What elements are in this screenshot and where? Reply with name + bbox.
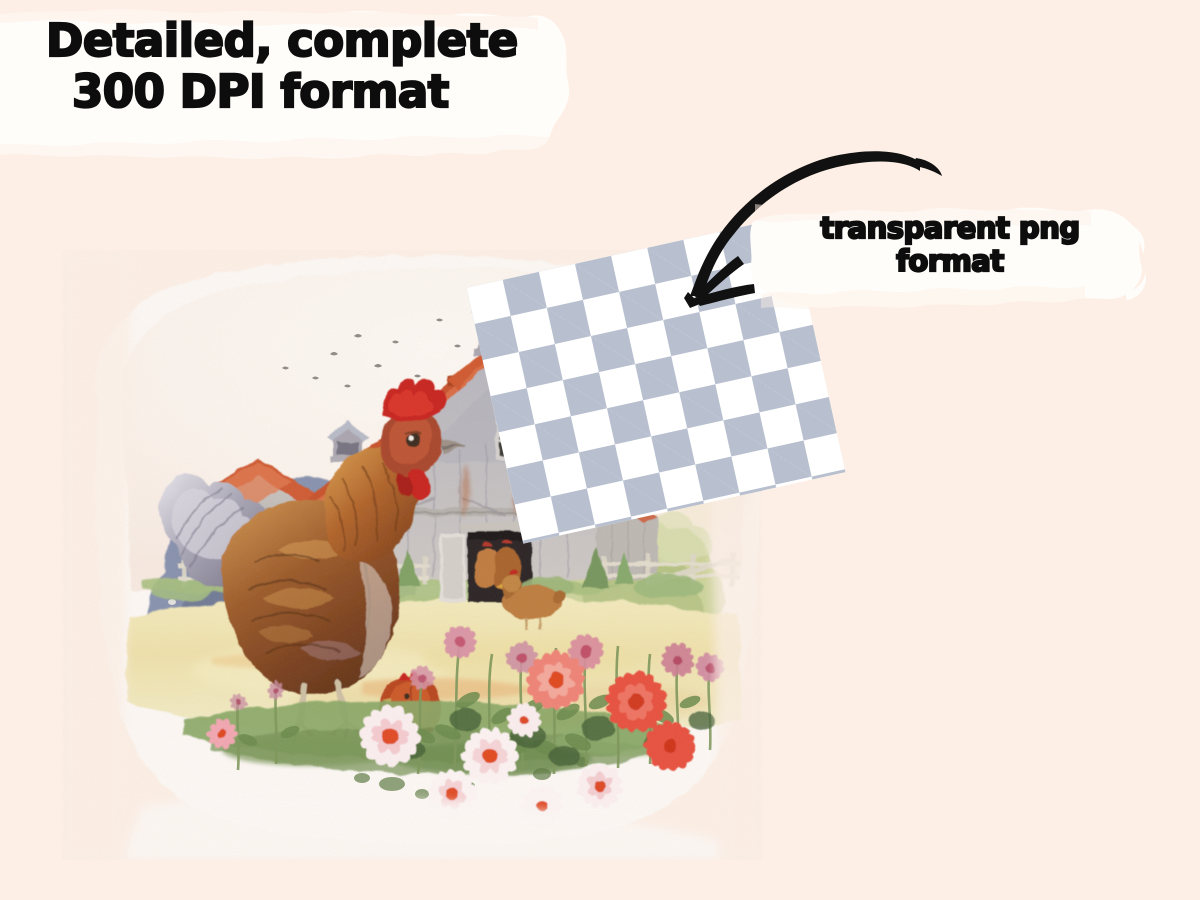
png-banner: transparent png format bbox=[745, 192, 1155, 320]
dpi-banner-line2: 300 DPI format bbox=[46, 69, 590, 115]
screenshot-canvas: Detailed, complete 300 DPI format transp… bbox=[0, 0, 1200, 900]
dpi-banner: Detailed, complete 300 DPI format bbox=[0, 0, 590, 168]
dpi-banner-text: Detailed, complete 300 DPI format bbox=[46, 18, 590, 115]
png-banner-line1: transparent png bbox=[820, 211, 1079, 245]
dpi-banner-line1: Detailed, complete bbox=[46, 14, 518, 67]
png-banner-text: transparent png format bbox=[745, 214, 1155, 276]
png-banner-line2: format bbox=[745, 247, 1155, 277]
